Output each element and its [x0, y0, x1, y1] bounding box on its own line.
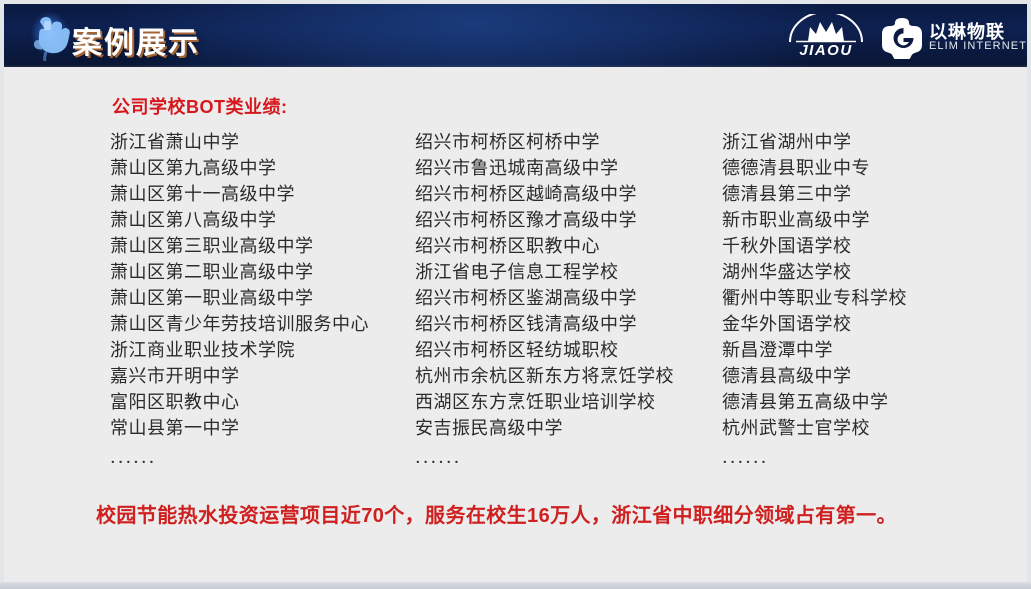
school-list-item: 德德清县职业中专 — [722, 156, 1022, 182]
column-ellipsis: ······ — [722, 450, 1022, 476]
school-list-item: 绍兴市柯桥区轻纺城职校 — [415, 338, 715, 364]
school-list-item: 萧山区第十一高级中学 — [110, 182, 410, 208]
slide-header-banner: 案例展示 JIAOU 以琳物联 ELIM INTERNET — [0, 4, 1031, 67]
school-list-item: 萧山区第一职业高级中学 — [110, 286, 410, 312]
school-list-item: 湖州华盛达学校 — [722, 260, 1022, 286]
school-list-item: 富阳区职教中心 — [110, 390, 410, 416]
section-heading: 公司学校BOT类业绩: — [112, 93, 288, 119]
school-list-item: 绍兴市柯桥区职教中心 — [415, 234, 715, 260]
school-list-item: 德清县高级中学 — [722, 364, 1022, 390]
school-list-item: 德清县第五高级中学 — [722, 390, 1022, 416]
slide-canvas: 案例展示 JIAOU 以琳物联 ELIM INTERNET 公司学校BOT类业绩… — [0, 0, 1031, 589]
arch-crown-icon — [786, 14, 866, 44]
summary-statement: 校园节能热水投资运营项目近70个，服务在校生16万人，浙江省中职细分领域占有第一… — [96, 499, 897, 528]
school-list-item: 绍兴市柯桥区柯桥中学 — [415, 130, 715, 156]
slide-body: 公司学校BOT类业绩: 浙江省萧山中学 萧山区第九高级中学 萧山区第十一高级中学… — [4, 67, 1027, 582]
school-list-item: 浙江省萧山中学 — [110, 130, 410, 156]
school-list-item: 萧山区第八高级中学 — [110, 208, 410, 234]
jiaou-logo: JIAOU — [776, 14, 876, 62]
school-list-item: 绍兴市柯桥区越崎高级中学 — [415, 182, 715, 208]
slide-frame-top — [0, 0, 1031, 4]
school-column-2: 绍兴市柯桥区柯桥中学 绍兴市鲁迅城南高级中学 绍兴市柯桥区越崎高级中学 绍兴市柯… — [415, 130, 715, 476]
school-list-item: 萧山区第九高级中学 — [110, 156, 410, 182]
school-list-item: 衢州中等职业专科学校 — [722, 286, 1022, 312]
school-list-item: 新市职业高级中学 — [722, 208, 1022, 234]
school-column-1: 浙江省萧山中学 萧山区第九高级中学 萧山区第十一高级中学 萧山区第八高级中学 萧… — [110, 130, 410, 476]
slide-frame-right — [1027, 4, 1031, 582]
slide-frame-bottom — [0, 582, 1031, 589]
elim-logo-name-en: ELIM INTERNET — [929, 40, 1027, 52]
school-list-item: 新昌澄潭中学 — [722, 338, 1022, 364]
slide-frame-left — [0, 4, 4, 582]
school-list-item: 浙江省湖州中学 — [722, 130, 1022, 156]
school-list-item: 绍兴市柯桥区钱清高级中学 — [415, 312, 715, 338]
g-hexagon-icon — [881, 17, 923, 59]
school-list-item: 杭州市余杭区新东方将烹饪学校 — [415, 364, 715, 390]
school-list-item: 萧山区第三职业高级中学 — [110, 234, 410, 260]
school-list-item: 绍兴市柯桥区鉴湖高级中学 — [415, 286, 715, 312]
school-list-item: 德清县第三中学 — [722, 182, 1022, 208]
school-column-3: 浙江省湖州中学 德德清县职业中专 德清县第三中学 新市职业高级中学 千秋外国语学… — [722, 130, 1022, 476]
school-list-item: 常山县第一中学 — [110, 416, 410, 442]
school-list-item: 绍兴市柯桥区豫才高级中学 — [415, 208, 715, 234]
school-list-item: 杭州武警士官学校 — [722, 416, 1022, 442]
page-title: 案例展示 — [72, 18, 200, 62]
elim-logo: 以琳物联 ELIM INTERNET — [881, 15, 1013, 61]
school-list-item: 浙江省电子信息工程学校 — [415, 260, 715, 286]
school-list-item: 金华外国语学校 — [722, 312, 1022, 338]
jiaou-logo-text: JIAOU — [776, 42, 876, 59]
school-list-item: 安吉振民高级中学 — [415, 416, 715, 442]
column-ellipsis: ······ — [110, 450, 410, 476]
school-list-item: 绍兴市鲁迅城南高级中学 — [415, 156, 715, 182]
school-list-item: 浙江商业职业技术学院 — [110, 338, 410, 364]
school-list-item: 萧山区青少年劳技培训服务中心 — [110, 312, 410, 338]
school-list-item: 千秋外国语学校 — [722, 234, 1022, 260]
school-list-item: 西湖区东方烹饪职业培训学校 — [415, 390, 715, 416]
school-list-item: 嘉兴市开明中学 — [110, 364, 410, 390]
school-list-item: 萧山区第二职业高级中学 — [110, 260, 410, 286]
column-ellipsis: ······ — [415, 450, 715, 476]
raised-fist-icon — [22, 6, 78, 67]
